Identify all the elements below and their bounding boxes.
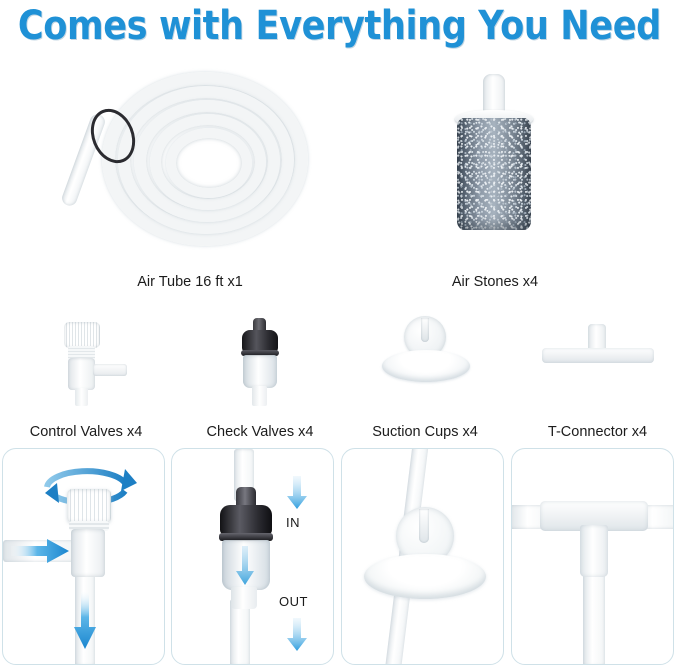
detail-panel-check-valve: IN OUT	[171, 448, 334, 665]
check-valve-cap	[242, 330, 278, 352]
panel4-connector-stem	[580, 525, 608, 577]
air-stone-image	[435, 68, 555, 238]
product-check-valve: Check Valves x4	[180, 292, 340, 440]
inlet-flow-arrow-icon	[9, 537, 71, 565]
panel1-valve-knob	[67, 489, 111, 523]
detail-panel-t-connector	[511, 448, 674, 665]
product-control-valve: Control Valves x4	[6, 292, 166, 440]
suction-cup-disc	[382, 350, 470, 382]
product-air-stone: Air Stones x4	[425, 52, 565, 290]
suction-cup-image	[370, 314, 480, 394]
out-arrow-icon	[285, 617, 309, 653]
control-valve-body	[68, 358, 95, 390]
control-valve-image	[36, 314, 136, 406]
product-row-mid: Control Valves x4 Check Valves x4 Suctio…	[0, 292, 679, 440]
in-arrow-icon	[285, 475, 309, 511]
control-valve-knob	[64, 322, 100, 348]
control-valve-stem	[75, 388, 88, 406]
product-check-valve-label: Check Valves x4	[207, 424, 314, 440]
check-valve-stem	[252, 386, 267, 406]
check-valve-body	[243, 355, 277, 388]
detail-panel-control-valve	[2, 448, 165, 665]
panel2-valve-cap	[220, 505, 272, 535]
page-title-bar: Comes with Everything You Need	[0, 0, 679, 52]
panel2-valve-outlet	[231, 587, 257, 609]
product-t-connector: T-Connector x4	[520, 292, 675, 440]
product-row-top: Air Tube 16 ft x1 Air Stones x4	[0, 52, 679, 290]
check-valve-image	[220, 314, 300, 406]
panel4-bottom-tube	[583, 569, 605, 665]
product-control-valve-label: Control Valves x4	[30, 424, 143, 440]
suction-cup-slot	[421, 318, 429, 342]
product-air-stone-label: Air Stones x4	[452, 274, 538, 290]
control-valve-side-barb	[93, 364, 127, 376]
page-title: Comes with Everything You Need	[18, 5, 661, 47]
product-suction-cup-label: Suction Cups x4	[372, 424, 478, 440]
product-suction-cup: Suction Cups x4	[350, 292, 500, 440]
air-stone-body	[457, 118, 531, 230]
panel3-cup-disc	[364, 554, 486, 599]
detail-panel-suction-cup	[341, 448, 504, 665]
out-label: OUT	[279, 594, 308, 609]
product-air-tube: Air Tube 16 ft x1	[60, 52, 320, 290]
panel1-valve-body	[71, 529, 105, 577]
internal-flow-arrow-icon	[234, 545, 256, 587]
outlet-flow-arrow-icon	[72, 589, 98, 651]
t-connector-image	[538, 322, 658, 382]
product-t-connector-label: T-Connector x4	[548, 424, 647, 440]
product-air-tube-label: Air Tube 16 ft x1	[137, 274, 243, 290]
detail-panel-row: IN OUT	[0, 448, 679, 667]
in-label: IN	[286, 515, 300, 530]
panel3-cup-slot	[419, 509, 429, 543]
t-connector-crossbar	[542, 348, 654, 363]
air-tube-image	[66, 66, 314, 252]
